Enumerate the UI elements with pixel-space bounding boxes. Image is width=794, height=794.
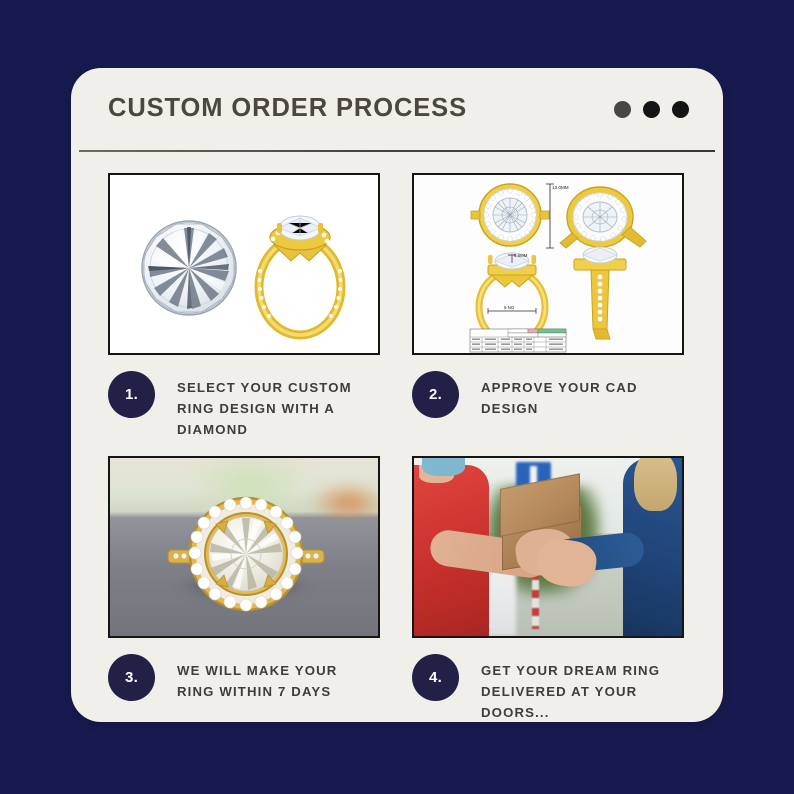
step-2-badge: 2. — [412, 371, 459, 418]
delivery-photo — [414, 458, 682, 636]
customer-hair — [634, 458, 677, 511]
step-card-2[interactable]: 13.0MM — [412, 173, 684, 440]
step-card-1[interactable]: 1. SELECT YOUR CUSTOM RING DESIGN WITH A… — [108, 173, 380, 440]
step-4-caption: 4. GET YOUR DREAM RING DELIVERED AT YOUR… — [412, 654, 684, 722]
diamond-and-ring-illustration — [110, 175, 378, 353]
card-header: CUSTOM ORDER PROCESS — [71, 68, 723, 152]
window-dot-1-icon[interactable] — [614, 101, 631, 118]
courier-face-mask — [422, 458, 465, 476]
step-1-caption: 1. SELECT YOUR CUSTOM RING DESIGN WITH A… — [108, 371, 380, 440]
step-2-label: APPROVE YOUR CAD DESIGN — [481, 377, 681, 419]
step-card-3[interactable]: 3. WE WILL MAKE YOUR RING WITHIN 7 DAYS — [108, 456, 380, 722]
page-title: CUSTOM ORDER PROCESS — [108, 94, 467, 123]
header-divider — [79, 150, 715, 152]
svg-text:13.0MM: 13.0MM — [552, 185, 569, 190]
step-2-caption: 2. APPROVE YOUR CAD DESIGN — [412, 371, 684, 419]
process-card: CUSTOM ORDER PROCESS — [71, 68, 723, 722]
step-3-image-frame — [108, 456, 380, 638]
window-dot-3-icon[interactable] — [672, 101, 689, 118]
step-4-image-frame — [412, 456, 684, 638]
step-3-badge: 3. — [108, 654, 155, 701]
step-3-label: WE WILL MAKE YOUR RING WITHIN 7 DAYS — [177, 660, 377, 702]
window-dot-2-icon[interactable] — [643, 101, 660, 118]
svg-text:6.6MM: 6.6MM — [514, 253, 528, 258]
finished-ring-photo — [110, 458, 378, 636]
step-1-badge: 1. — [108, 371, 155, 418]
cad-drawing-svg: 13.0MM — [414, 175, 684, 355]
svg-text:5 NO: 5 NO — [504, 305, 515, 310]
step-1-label: SELECT YOUR CUSTOM RING DESIGN WITH A DI… — [177, 377, 377, 440]
ring-photo-svg — [110, 458, 378, 636]
step-4-badge: 4. — [412, 654, 459, 701]
poster-canvas: CUSTOM ORDER PROCESS — [0, 0, 794, 794]
window-controls — [614, 101, 689, 118]
step-card-4[interactable]: 4. GET YOUR DREAM RING DELIVERED AT YOUR… — [412, 456, 684, 722]
step-1-image-frame — [108, 173, 380, 355]
diamond-ring-svg — [110, 175, 380, 355]
steps-grid: 1. SELECT YOUR CUSTOM RING DESIGN WITH A… — [108, 173, 723, 722]
step-3-caption: 3. WE WILL MAKE YOUR RING WITHIN 7 DAYS — [108, 654, 380, 702]
step-4-label: GET YOUR DREAM RING DELIVERED AT YOUR DO… — [481, 660, 681, 722]
cad-drawing-illustration: 13.0MM — [414, 175, 682, 353]
step-2-image-frame: 13.0MM — [412, 173, 684, 355]
